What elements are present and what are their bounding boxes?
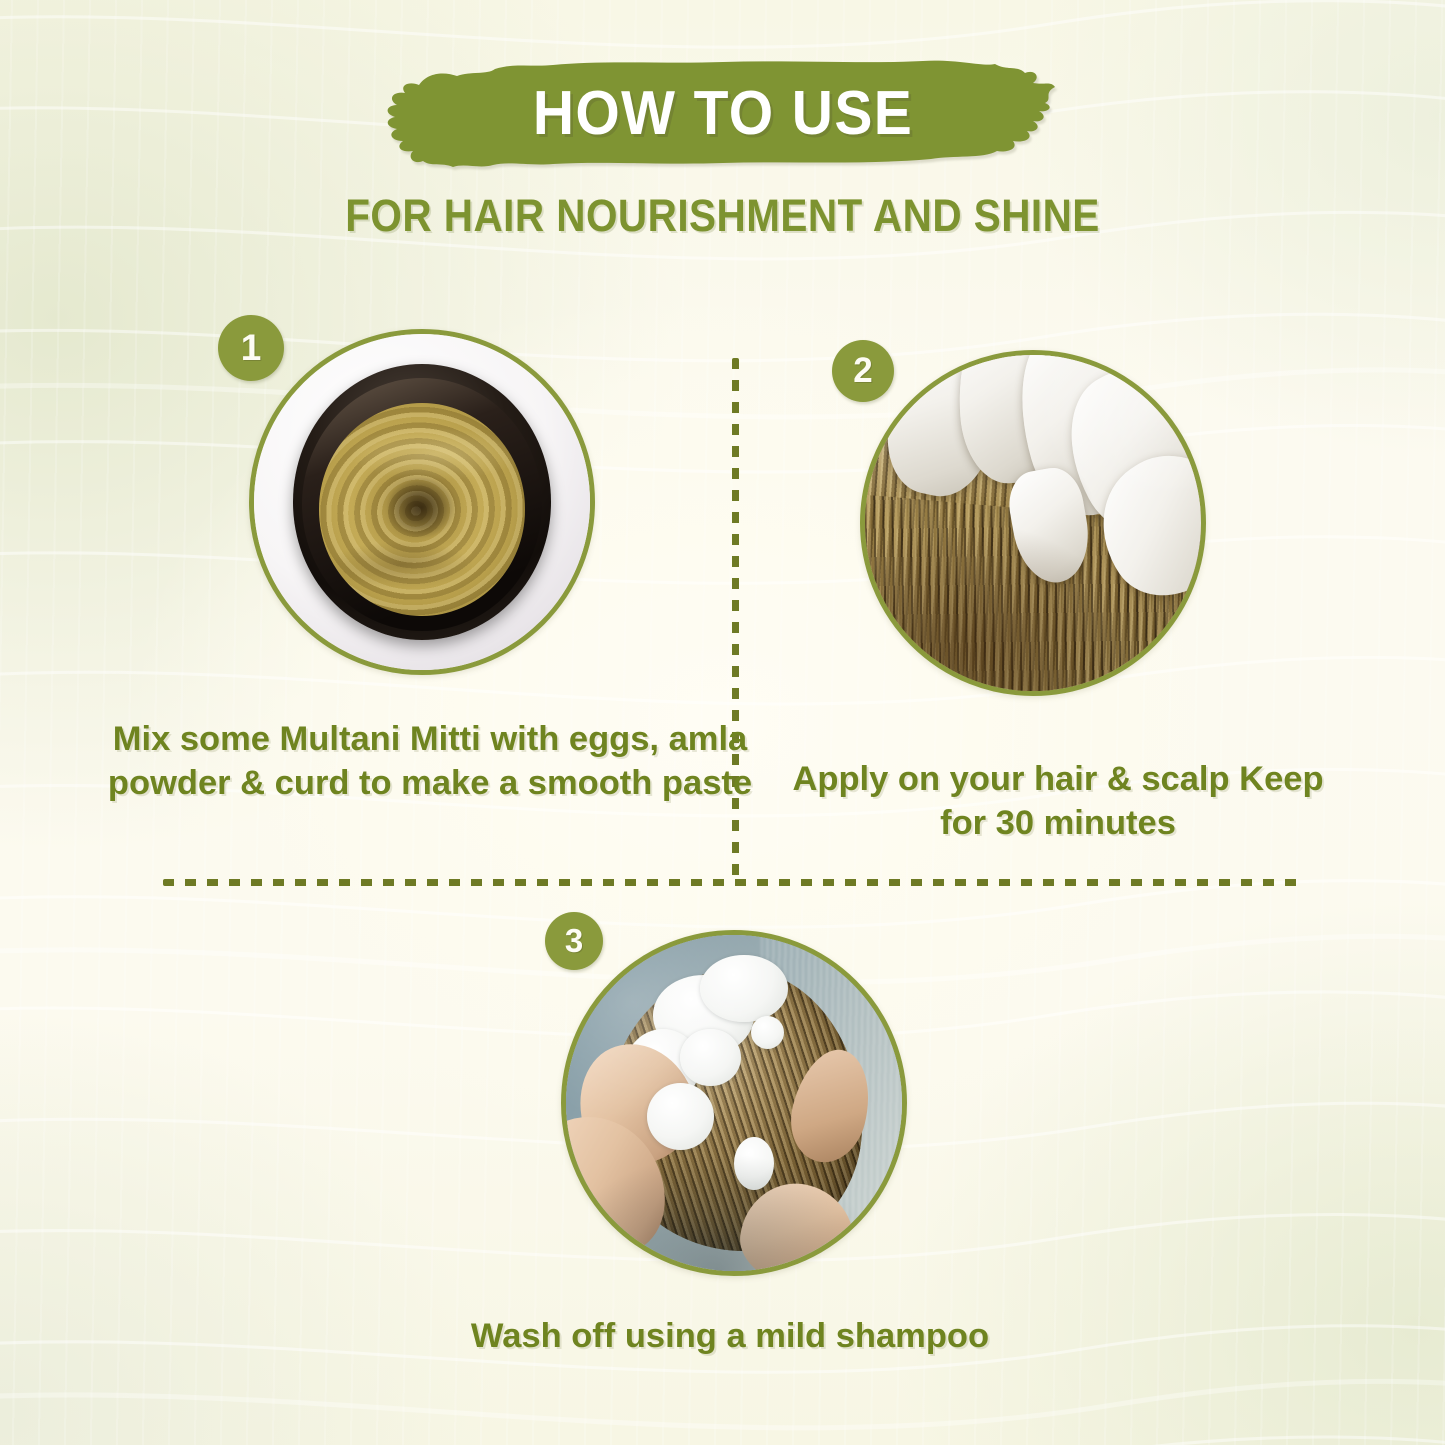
step-3-caption: Wash off using a mild shampoo: [460, 1315, 1000, 1359]
step-3-image: [561, 930, 907, 1276]
step-2-image: [860, 350, 1206, 696]
bowl-rim: [302, 378, 543, 631]
bowl-outer: [293, 364, 552, 640]
vertical-dashed-divider: [732, 358, 739, 886]
step-1-caption: Mix some Multani Mitti with eggs, amla p…: [100, 718, 760, 806]
step-3: 3 Wash off using a mild shampoo: [0, 0, 346, 346]
title-brush-banner: HOW TO USE: [383, 55, 1063, 175]
bowl-of-multani-mitti-paste-photo: [254, 334, 590, 670]
multani-mitti-paste: [319, 403, 526, 616]
step-2-number-badge: 2: [832, 340, 894, 402]
step-3-number-badge: 3: [545, 912, 603, 970]
step-2-caption: Apply on your hair & scalp Keep for 30 m…: [778, 758, 1338, 846]
step-1-number-badge: 1: [218, 315, 284, 381]
gloved-hands-applying-paste-to-hair-photo: [865, 355, 1201, 691]
step-1-image: [249, 329, 595, 675]
hair-shading: [865, 355, 1201, 691]
woman-shampooing-hair-in-shower-photo: [566, 935, 902, 1271]
page-title: HOW TO USE: [410, 55, 1036, 175]
shower-shading: [566, 935, 902, 1271]
